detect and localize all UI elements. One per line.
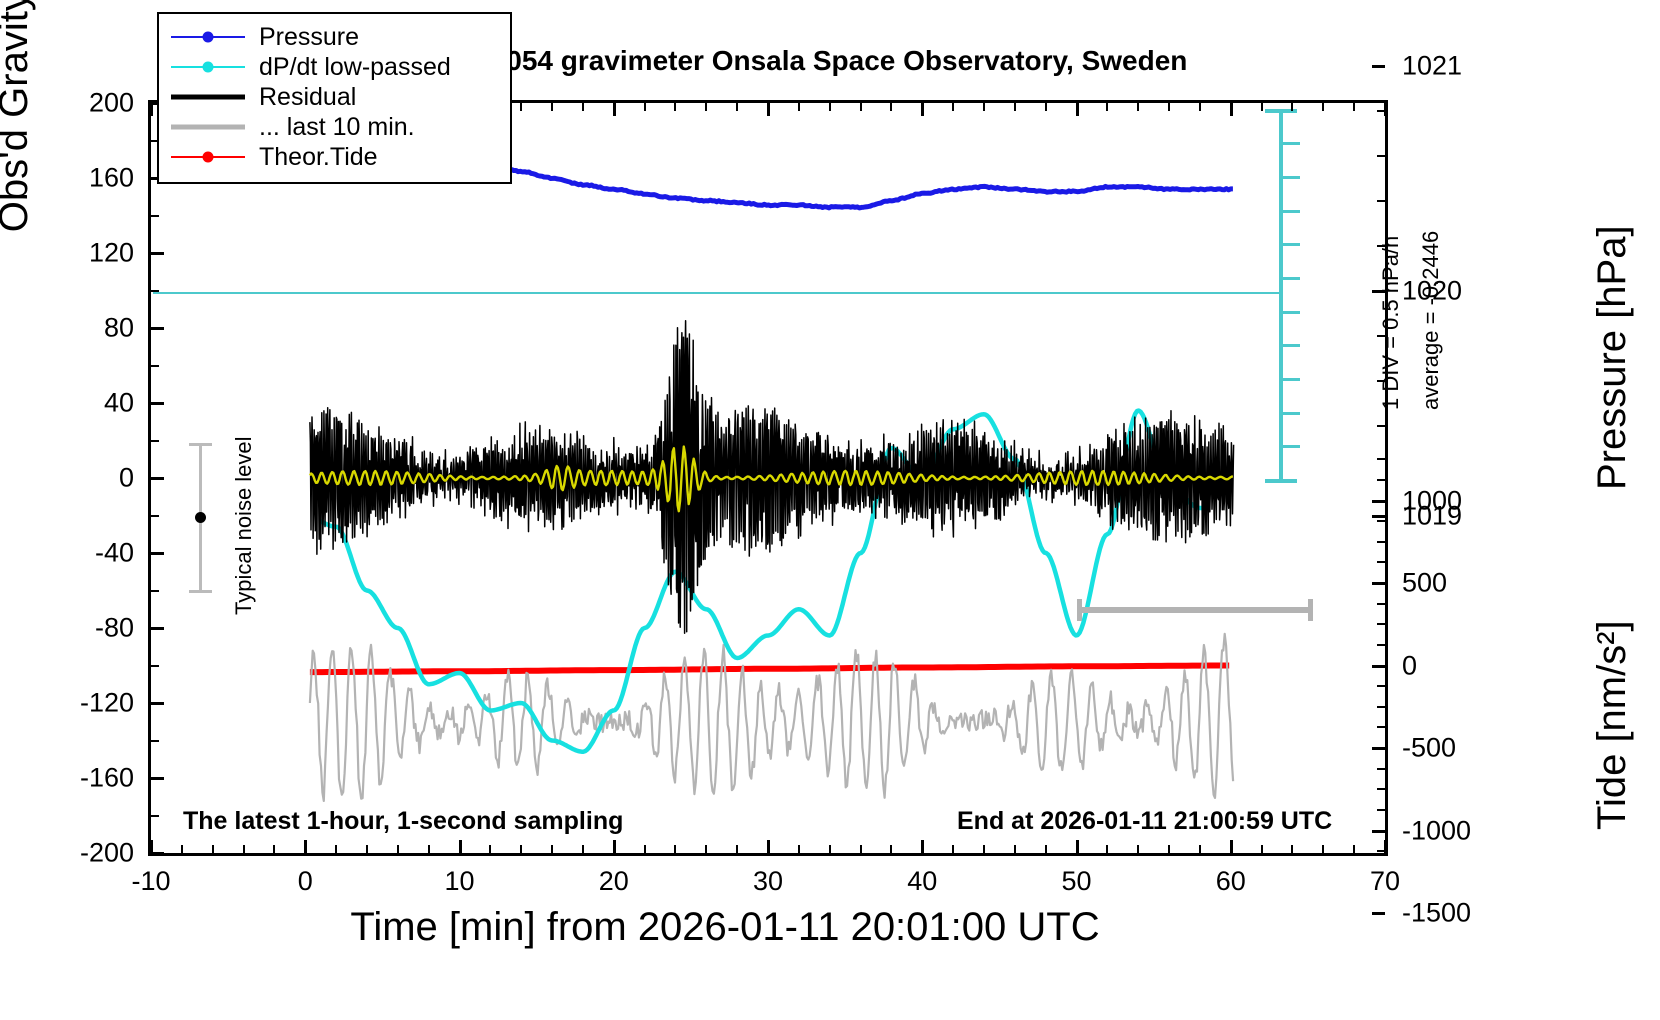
y-axis-left-tick-label: -120 (80, 688, 134, 719)
y-axis-left-tick-label: -40 (95, 538, 134, 569)
x-axis-tick (304, 840, 307, 853)
legend-label: ... last 10 min. (247, 113, 415, 142)
x-axis-top-minor-tick (1168, 103, 1170, 111)
x-axis-top-minor-tick (1137, 103, 1139, 111)
legend-item-4[interactable]: Theor.Tide (169, 142, 500, 172)
x-axis-top-tick (1384, 103, 1387, 116)
y-axis-left-tick (151, 627, 164, 630)
legend-marker-icon (203, 152, 214, 163)
x-axis-tick-label: 10 (444, 866, 474, 897)
x-axis-minor-tick (243, 845, 245, 853)
last-10-min-marker (1077, 607, 1313, 613)
x-axis-minor-tick (520, 845, 522, 853)
y-axis-tide-tick-label: -500 (1402, 733, 1456, 764)
legend-swatch-1 (169, 55, 247, 79)
x-axis-top-minor-tick (736, 103, 738, 111)
x-axis-top-minor-tick (1199, 103, 1201, 111)
x-axis-minor-tick (1106, 845, 1108, 853)
legend-swatch-4 (169, 145, 247, 169)
x-axis-tick (767, 840, 770, 853)
y-axis-left-tick (151, 252, 164, 255)
y-axis-left-tick-label: 160 (89, 163, 134, 194)
x-axis-top-minor-tick (551, 103, 553, 111)
x-axis-minor-tick (1322, 845, 1324, 853)
legend-line-icon (171, 125, 245, 130)
y-axis-tide-tick (1372, 500, 1385, 503)
x-axis-tick-label: 30 (753, 866, 783, 897)
dpdt-scale-tick (1283, 176, 1300, 179)
y-axis-left-tick (151, 402, 164, 405)
x-axis-minor-tick (1168, 845, 1170, 853)
x-axis-minor-tick (212, 845, 214, 853)
y-axis-tide-minor-tick (1377, 479, 1385, 481)
dpdt-scale-tick (1283, 243, 1300, 246)
y-axis-tide-minor-tick (1377, 809, 1385, 811)
legend-label: Pressure (247, 23, 359, 52)
average-label: average = -0.2446 (1418, 231, 1444, 410)
x-axis-minor-tick (952, 845, 954, 853)
x-axis-top-tick (150, 103, 153, 116)
x-axis-minor-tick (1291, 845, 1293, 853)
y-axis-tide-label: Tide [nm/s²] (1590, 620, 1635, 830)
y-axis-tide-minor-tick (1377, 788, 1385, 790)
x-axis-minor-tick (366, 845, 368, 853)
x-axis-top-minor-tick (952, 103, 954, 111)
legend-line-icon (171, 95, 245, 100)
x-axis-tick (613, 840, 616, 853)
y-axis-tide-tick-label: 0 (1402, 650, 1417, 681)
x-axis-top-minor-tick (1291, 103, 1293, 111)
y-axis-tide-tick (1372, 912, 1385, 915)
x-axis-minor-tick (181, 845, 183, 853)
y-axis-left-label-text: Obs'd Gravity [nm/s²] (0, 0, 36, 232)
y-axis-left-tick (151, 327, 164, 330)
y-axis-tide-tick (1372, 830, 1385, 833)
trace-theoretical-tide (310, 666, 1229, 673)
dpdt-scale-bottom-cap (1265, 479, 1297, 483)
y-axis-tide-tick (1372, 747, 1385, 750)
x-axis-minor-tick (551, 845, 553, 853)
x-axis-top-minor-tick (983, 103, 985, 111)
y-axis-left-minor-tick (151, 290, 159, 292)
y-axis-left-tick-label: -160 (80, 763, 134, 794)
y-axis-left-tick (151, 702, 164, 705)
x-axis-top-tick (1230, 103, 1233, 116)
y-axis-left-minor-tick (151, 815, 159, 817)
y-axis-tide-minor-tick (1377, 768, 1385, 770)
x-axis-minor-tick (983, 845, 985, 853)
x-axis-minor-tick (1199, 845, 1201, 853)
noise-bar-top-cap (189, 443, 212, 446)
y-axis-pressure-tick (1372, 515, 1385, 518)
y-axis-left-minor-tick (151, 665, 159, 667)
noise-bar-center-dot (195, 512, 206, 523)
x-axis-top-tick (921, 103, 924, 116)
y-axis-left-label: Obs'd Gravity [nm/s²] (0, 0, 37, 255)
noise-bar-bottom-cap (189, 590, 212, 593)
plot-area: Typical noise level The latest 1-hour, 1… (148, 100, 1388, 856)
trace-last-10-min (310, 634, 1233, 801)
noise-level-label: Typical noise level (231, 436, 257, 615)
x-axis-minor-tick (582, 845, 584, 853)
legend-item-2[interactable]: Residual (169, 82, 500, 112)
y-axis-tide-minor-tick (1377, 458, 1385, 460)
y-axis-pressure-minor-tick (1377, 425, 1385, 427)
legend-item-0[interactable]: Pressure (169, 22, 500, 52)
y-axis-tide-tick-label: -1500 (1402, 898, 1471, 929)
x-axis-top-minor-tick (1014, 103, 1016, 111)
legend-label: Residual (247, 83, 356, 112)
y-axis-tide-minor-tick (1377, 520, 1385, 522)
x-axis-minor-tick (705, 845, 707, 853)
x-axis-top-minor-tick (829, 103, 831, 111)
y-axis-tide-tick (1372, 582, 1385, 585)
dpdt-scale-axis (1279, 109, 1283, 479)
y-axis-left-minor-tick (151, 740, 159, 742)
y-axis-tide-minor-tick (1377, 541, 1385, 543)
dpdt-scale-tick (1283, 142, 1300, 145)
dpdt-scale-tick (1283, 210, 1300, 213)
dpdt-scale-tick (1283, 277, 1300, 280)
y-axis-tide-tick-label: 1000 (1402, 485, 1462, 516)
x-axis-top-minor-tick (1322, 103, 1324, 111)
x-axis-top-minor-tick (674, 103, 676, 111)
dpdt-scale-tick (1283, 344, 1300, 347)
footer-left-text: The latest 1-hour, 1-second sampling (183, 807, 623, 836)
x-axis-minor-tick (1137, 845, 1139, 853)
x-axis-minor-tick (428, 845, 430, 853)
x-axis-top-tick (767, 103, 770, 116)
y-axis-left-tick (151, 552, 164, 555)
x-axis-minor-tick (335, 845, 337, 853)
x-axis-minor-tick (1045, 845, 1047, 853)
x-axis-minor-tick (397, 845, 399, 853)
legend-item-3[interactable]: ... last 10 min. (169, 112, 500, 142)
x-axis-tick (1384, 840, 1387, 853)
x-axis-top-minor-tick (1353, 103, 1355, 111)
legend-label: Theor.Tide (247, 143, 378, 172)
x-axis-top-minor-tick (1106, 103, 1108, 111)
legend-swatch-3 (169, 115, 247, 139)
dpdt-zero-line (153, 292, 1281, 294)
x-axis-top-minor-tick (798, 103, 800, 111)
x-axis-top-minor-tick (582, 103, 584, 111)
scale-div-label: 1 DIV = 0.5 hPa/h (1378, 236, 1404, 410)
x-axis-tick (1230, 840, 1233, 853)
y-axis-tide-tick-label: 500 (1402, 568, 1447, 599)
x-axis-top-minor-tick (520, 103, 522, 111)
x-axis-minor-tick (489, 845, 491, 853)
y-axis-pressure-minor-tick (1377, 155, 1385, 157)
y-axis-tide-minor-tick (1377, 623, 1385, 625)
y-axis-left-tick (151, 777, 164, 780)
x-axis-top-minor-tick (1045, 103, 1047, 111)
x-axis-tick-label: 20 (599, 866, 629, 897)
x-axis-minor-tick (644, 845, 646, 853)
x-axis-top-minor-tick (860, 103, 862, 111)
y-axis-left-tick-label: 80 (104, 313, 134, 344)
x-axis-minor-tick (736, 845, 738, 853)
x-axis-top-tick (1076, 103, 1079, 116)
footer-right-text: End at 2026-01-11 21:00:59 UTC (957, 807, 1332, 836)
y-axis-left-tick-label: -80 (95, 613, 134, 644)
x-axis-label: Time [min] from 2026-01-11 20:01:00 UTC (0, 905, 1450, 950)
y-axis-tide-tick (1372, 665, 1385, 668)
y-axis-left-tick-label: 120 (89, 238, 134, 269)
y-axis-left-minor-tick (151, 590, 159, 592)
legend-marker-icon (203, 32, 214, 43)
y-axis-pressure-minor-tick (1377, 200, 1385, 202)
y-axis-pressure-tick (1372, 65, 1385, 68)
x-axis-minor-tick (273, 845, 275, 853)
dpdt-scale-tick (1283, 311, 1300, 314)
legend-swatch-2 (169, 85, 247, 109)
y-axis-left-tick-label: 0 (119, 463, 134, 494)
x-axis-top-tick (613, 103, 616, 116)
y-axis-tide-minor-tick (1377, 603, 1385, 605)
legend-marker-icon (203, 62, 214, 73)
x-axis-top-minor-tick (1261, 103, 1263, 111)
chart-title: SCG_054 gravimeter Onsala Space Observat… (430, 45, 1187, 77)
legend-item-1[interactable]: dP/dt low-passed (169, 52, 500, 82)
x-axis-tick-label: -10 (131, 866, 170, 897)
y-axis-pressure-tick-label: 1020 (1402, 275, 1462, 306)
legend-swatch-0 (169, 25, 247, 49)
y-axis-left-minor-tick (151, 515, 159, 517)
y-axis-pressure-tick-label: 1021 (1402, 50, 1462, 81)
y-axis-left-tick-label: -200 (80, 838, 134, 869)
y-axis-tide-minor-tick (1377, 685, 1385, 687)
legend: PressuredP/dt low-passedResidual... last… (157, 12, 512, 184)
x-axis-tick-label: 50 (1061, 866, 1091, 897)
y-axis-left-minor-tick (151, 215, 159, 217)
x-axis-tick (921, 840, 924, 853)
x-axis-tick (1076, 840, 1079, 853)
chart-canvas: SCG_054 gravimeter Onsala Space Observat… (0, 0, 1660, 1020)
data-traces (151, 103, 1385, 853)
x-axis-minor-tick (674, 845, 676, 853)
x-axis-top-minor-tick (890, 103, 892, 111)
dpdt-scale-tick (1283, 445, 1300, 448)
x-axis-minor-tick (1261, 845, 1263, 853)
y-axis-tide-minor-tick (1377, 644, 1385, 646)
x-axis-tick-label: 0 (298, 866, 313, 897)
y-axis-left-tick (151, 477, 164, 480)
x-axis-top-minor-tick (705, 103, 707, 111)
last-10-min-marker-right-cap (1308, 599, 1313, 621)
x-axis-tick-label: 70 (1370, 866, 1400, 897)
y-axis-left-minor-tick (151, 365, 159, 367)
dpdt-scale-tick (1283, 412, 1300, 415)
x-axis-minor-tick (829, 845, 831, 853)
x-axis-top-minor-tick (644, 103, 646, 111)
last-10-min-marker-left-cap (1077, 599, 1082, 621)
y-axis-left-minor-tick (151, 440, 159, 442)
y-axis-tide-minor-tick (1377, 726, 1385, 728)
x-axis-tick-label: 40 (907, 866, 937, 897)
x-axis-minor-tick (1353, 845, 1355, 853)
legend-label: dP/dt low-passed (247, 53, 451, 82)
y-axis-left-tick-label: 40 (104, 388, 134, 419)
x-axis-minor-tick (798, 845, 800, 853)
y-axis-tide-minor-tick (1377, 561, 1385, 563)
x-axis-tick-label: 60 (1216, 866, 1246, 897)
x-axis-tick (150, 840, 153, 853)
y-axis-pressure-label: Pressure [hPa] (1590, 225, 1635, 490)
y-axis-left-tick-label: 200 (89, 88, 134, 119)
y-axis-tide-tick-label: -1000 (1402, 815, 1471, 846)
x-axis-minor-tick (860, 845, 862, 853)
x-axis-tick (459, 840, 462, 853)
dpdt-scale-tick (1283, 378, 1300, 381)
x-axis-minor-tick (1014, 845, 1016, 853)
y-axis-tide-minor-tick (1377, 706, 1385, 708)
x-axis-minor-tick (890, 845, 892, 853)
